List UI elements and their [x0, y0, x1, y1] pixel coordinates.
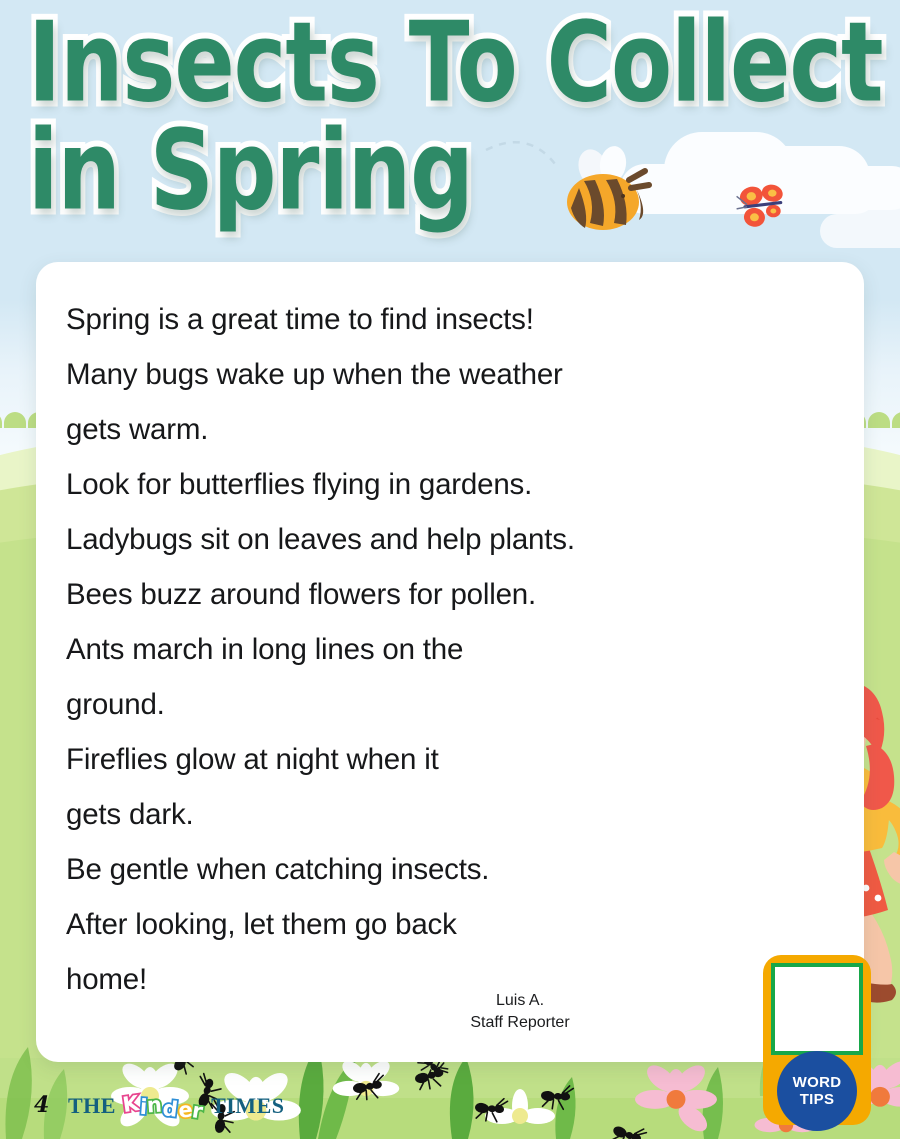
- word-tips-badge[interactable]: WORD TIPS: [763, 955, 871, 1125]
- word-tips-line-2: TIPS: [800, 1091, 835, 1108]
- masthead: THE K i n d e r TIMES: [68, 1093, 284, 1119]
- masthead-times: TIMES: [211, 1093, 284, 1119]
- newspaper-page: Insects To Collect in Spring: [0, 0, 900, 1139]
- qr-code[interactable]: [771, 963, 863, 1055]
- qr-code-pattern: [775, 967, 859, 1051]
- page-title: Insects To Collect in Spring: [28, 8, 900, 225]
- article-text: Spring is a great time to find insects! …: [66, 292, 726, 1007]
- byline-role: Staff Reporter: [430, 1012, 610, 1034]
- article-body: Spring is a great time to find insects! …: [66, 292, 726, 1007]
- word-tips-label[interactable]: WORD TIPS: [777, 1051, 857, 1131]
- masthead-kinder-letter: n: [147, 1094, 164, 1116]
- byline: Luis A. Staff Reporter: [430, 990, 610, 1034]
- masthead-kinder-letter: r: [191, 1100, 205, 1122]
- word-tips-line-1: WORD: [793, 1074, 842, 1091]
- page-number: 4: [34, 1092, 49, 1118]
- page-title-line-2: in Spring: [28, 117, 900, 226]
- byline-name: Luis A.: [430, 990, 610, 1012]
- masthead-kinder-letter: K: [121, 1092, 141, 1115]
- masthead-the: THE: [68, 1093, 116, 1119]
- masthead-kinder: K i n d e r: [123, 1096, 204, 1117]
